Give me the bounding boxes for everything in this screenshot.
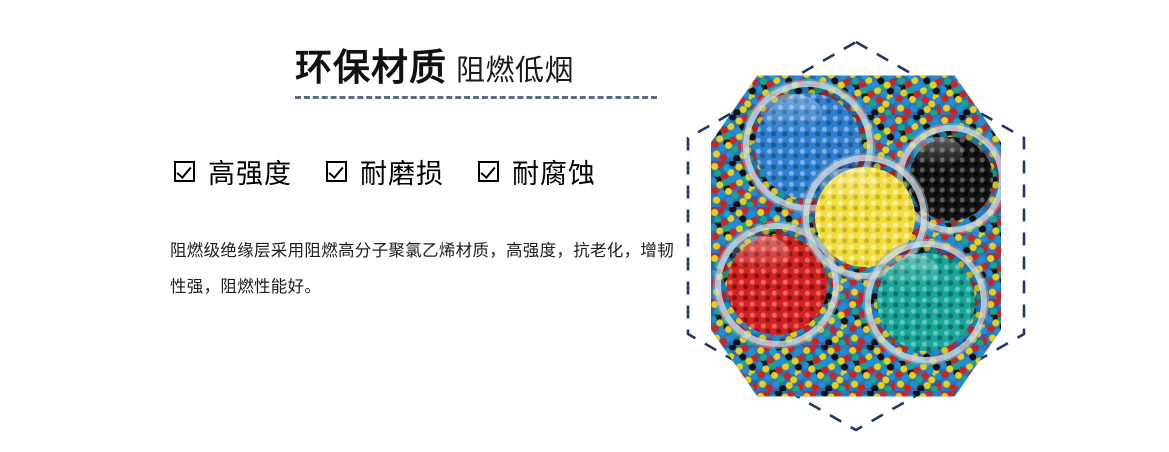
bowl-glass-gloss bbox=[761, 94, 822, 132]
feature-item-2: 耐磨损 bbox=[326, 152, 444, 191]
bowl-glass-gloss bbox=[732, 236, 790, 272]
heading-line: 环保材质阻燃低烟 bbox=[295, 48, 660, 89]
checked-box-icon bbox=[326, 161, 347, 182]
checked-box-icon bbox=[174, 161, 195, 182]
bowl-glass-gloss bbox=[913, 137, 963, 168]
feature-item-1: 高强度 bbox=[174, 152, 292, 191]
plastic-pellets-photo bbox=[711, 69, 1001, 403]
heading-sub-text: 阻燃低烟 bbox=[456, 55, 574, 87]
photo-canvas bbox=[711, 69, 1001, 403]
feature-label-3: 耐腐蚀 bbox=[512, 152, 596, 191]
feature-label-2: 耐磨损 bbox=[360, 152, 444, 191]
product-feature-banner: 环保材质阻燃低烟 高强度 耐磨损 耐腐蚀 阻燃级绝缘层采用阻燃高分子聚氯乙烯材质… bbox=[0, 0, 1169, 452]
feature-checklist: 高强度 耐磨损 耐腐蚀 bbox=[174, 152, 596, 191]
text-column: 环保材质阻燃低烟 高强度 耐磨损 耐腐蚀 阻燃级绝缘层采用阻燃高分子聚氯乙烯材质… bbox=[0, 0, 690, 452]
feature-item-3: 耐腐蚀 bbox=[478, 152, 596, 191]
bowl-glass-gloss bbox=[882, 254, 939, 289]
checked-box-icon bbox=[478, 161, 499, 182]
teal-pellet-bowl bbox=[871, 247, 981, 357]
bowl-glass-gloss bbox=[820, 168, 878, 204]
heading-main-text: 环保材质 bbox=[295, 47, 447, 88]
feature-label-1: 高强度 bbox=[208, 152, 292, 191]
heading-block: 环保材质阻燃低烟 bbox=[295, 48, 660, 89]
description-paragraph: 阻燃级绝缘层采用阻燃高分子聚氯乙烯材质，高强度，抗老化，增韧性强，阻燃性能好。 bbox=[170, 233, 675, 305]
heading-dashed-rule bbox=[295, 96, 657, 99]
hexagon-image-panel bbox=[684, 38, 1028, 434]
